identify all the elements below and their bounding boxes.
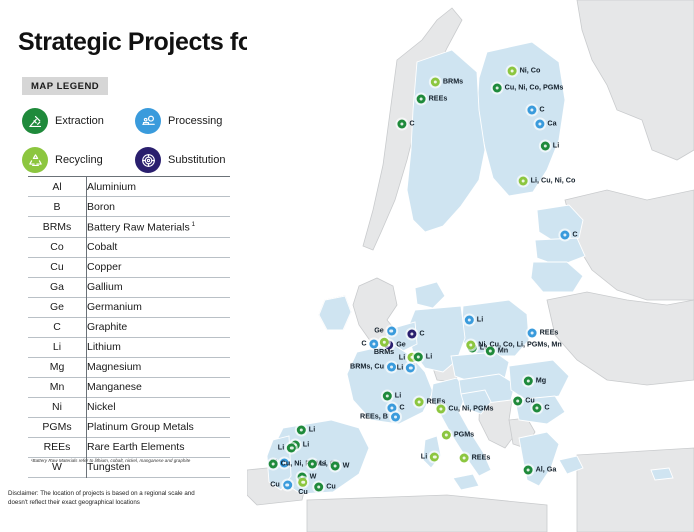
extraction-marker-icon [297,426,306,435]
map-marker-label: Ca [547,120,556,128]
table-row: GaGallium [28,277,230,297]
table-row: CGraphite [28,317,230,337]
map-marker[interactable]: C [532,404,549,413]
recycling-marker-icon [430,453,439,462]
processing-marker-icon [387,404,396,413]
table-row: BRMsBattery Raw Materials 1 [28,217,230,238]
map-marker-label: REEs [429,95,448,103]
recycling-marker-icon [380,338,389,347]
substitution-marker-icon [407,330,416,339]
abbr-symbol: Ge [28,297,87,317]
map-marker[interactable]: Li [383,392,401,401]
extraction-marker-icon [314,483,323,492]
map-legend: MAP LEGEND Extraction Processing [22,76,244,173]
extraction-marker-icon [513,397,522,406]
map-marker[interactable]: Mg [524,377,546,386]
processing-marker-icon [535,120,544,129]
map-marker-label: Li [399,354,405,362]
recycling-marker-icon [508,67,517,76]
map-marker-label: C [544,404,549,412]
map-marker[interactable]: Li, Cu, Ni, Co [519,177,576,186]
map-marker-label: Cu, Ni, Co, PGMs [505,84,564,92]
map-marker-label: C [409,120,414,128]
abbr-name: Manganese [87,377,231,397]
map-marker[interactable]: C [527,106,544,115]
substitution-icon [135,147,161,173]
map-marker[interactable]: C [560,231,577,240]
abbr-symbol: REEs [28,437,87,457]
map-marker[interactable]: Cu, Ni, PGMs [436,405,493,414]
abbr-symbol: Li [28,337,87,357]
extraction-marker-icon [383,392,392,401]
map-marker-label: Li [397,364,403,372]
map-marker[interactable]: Li [465,316,483,325]
map-marker[interactable]: Al, Ga [524,466,557,475]
table-row: AlAluminium [28,177,230,197]
processing-marker-icon [283,481,292,490]
abbr-symbol: Mg [28,357,87,377]
abbr-name: Aluminium [87,177,231,197]
map-marker-layer: Ni, CoBRMsCu, Ni, Co, PGMsREEsCCaCLiLi, … [247,0,694,532]
map-marker[interactable]: Ni, Cu, Co, Li, PGMs, Mn [466,341,561,350]
map-marker[interactable]: Li [297,426,315,435]
map-marker-label: Li [477,316,483,324]
extraction-marker-icon [532,404,541,413]
extraction-marker-icon [414,353,423,362]
europe-map: Ni, CoBRMsCu, Ni, Co, PGMsREEsCCaCLiLi, … [247,0,694,532]
abbr-name: Rare Earth Elements [87,437,231,457]
abbr-symbol: C [28,317,87,337]
map-marker[interactable]: Li [308,460,326,469]
table-row: CoCobalt [28,237,230,257]
abbr-symbol: B [28,197,87,217]
extraction-marker-icon [524,377,533,386]
map-marker-label: Li [421,453,427,461]
legend-badge: MAP LEGEND [22,77,108,95]
abbr-name: Copper [87,257,231,277]
recycling-marker-icon [466,341,475,350]
recycling-marker-icon [519,177,528,186]
map-marker[interactable]: C [407,330,424,339]
slide-root: Strategic Projects for the EU MAP LEGEND… [0,0,694,532]
map-marker[interactable]: W [331,462,350,471]
processing-marker-icon [391,413,400,422]
map-marker-label: Ge [374,327,384,335]
abbr-symbol: BRMs [28,217,87,238]
map-marker[interactable]: Li [541,142,559,151]
recycling-icon [22,147,48,173]
map-marker[interactable]: REEs [417,95,448,104]
map-marker[interactable]: Li [414,353,432,362]
map-marker[interactable]: Ca [535,120,556,129]
map-marker-label: Ge [396,341,406,349]
disclaimer: Disclaimer: The location of projects is … [8,490,208,508]
legend-items: Extraction Processing [22,108,244,173]
legend-label-extraction: Extraction [55,115,104,127]
extraction-marker-icon [331,462,340,471]
abbr-symbol: Al [28,177,87,197]
abbr-name: Graphite [87,317,231,337]
map-marker[interactable]: Ge [374,327,396,336]
abbr-name: Magnesium [87,357,231,377]
abbr-name: Battery Raw Materials 1 [87,217,231,238]
processing-marker-icon [387,327,396,336]
table-row: LiLithium [28,337,230,357]
map-marker-label: C [539,106,544,114]
map-marker[interactable]: Cu [270,481,292,490]
extraction-marker-icon [308,460,317,469]
map-marker[interactable]: Cu, Ni, PGMs, Co [269,460,340,469]
map-marker[interactable]: C [387,404,404,413]
abbr-name: Boron [87,197,231,217]
map-marker-label: BRMs [443,78,463,86]
abbr-symbol: Mn [28,377,87,397]
map-marker-label: Li [320,460,326,468]
map-marker-label: Li [426,353,432,361]
abbr-name: Gallium [87,277,231,297]
map-marker-label: PGMs [454,431,474,439]
map-marker-label: BRMs, Cu [350,363,384,371]
legend-item-processing: Processing [135,108,244,134]
map-marker-label: Li [303,441,309,449]
recycling-marker-icon [460,454,469,463]
map-marker[interactable]: BRMs [374,338,394,356]
map-marker[interactable]: Ni, Co [508,67,541,76]
map-marker-label: Cu [326,483,336,491]
map-marker-label: Li [395,392,401,400]
map-marker-label: Mg [536,377,546,385]
map-marker-label: Ni, Co [520,67,541,75]
extraction-marker-icon [397,120,406,129]
table-row: BBoron [28,197,230,217]
map-marker[interactable]: Cu [314,483,336,492]
map-marker[interactable]: C [397,120,414,129]
map-marker[interactable]: BRMs [431,78,463,87]
map-marker-label: Cu [270,481,280,489]
table-row: MgMagnesium [28,357,230,377]
abbr-name: Platinum Group Metals [87,417,231,437]
map-marker-label: Cu, Ni, PGMs [448,405,493,413]
map-marker-label: Ni, Cu, Co, Li, PGMs, Mn [478,341,561,349]
map-marker-label: C [399,404,404,412]
legend-label-processing: Processing [168,115,222,127]
map-marker-label: C [361,340,366,348]
recycling-marker-icon [436,405,445,414]
map-marker[interactable]: BRMs, Cu [350,363,396,372]
map-marker-label: Cu [298,488,308,496]
abbr-symbol: PGMs [28,417,87,437]
processing-marker-icon [527,106,536,115]
recycling-marker-icon [431,78,440,87]
legend-item-substitution: Substitution [135,147,244,173]
abbr-name: Lithium [87,337,231,357]
map-marker[interactable]: REEs [528,329,559,338]
abbr-symbol: Ga [28,277,87,297]
legend-label-recycling: Recycling [55,154,103,166]
extraction-marker-icon [287,444,296,453]
map-marker-label: C [572,231,577,239]
abbr-symbol: Ni [28,397,87,417]
legend-item-recycling: Recycling [22,147,131,173]
map-marker-label: W [310,473,317,481]
abbr-symbol: Co [28,237,87,257]
table-row: REEsRare Earth Elements [28,437,230,457]
extraction-icon [22,108,48,134]
map-marker[interactable]: Li [278,444,296,453]
recycling-marker-icon [299,478,308,487]
table-row: CuCopper [28,257,230,277]
processing-marker-icon [387,363,396,372]
map-marker-label: REEs [540,329,559,337]
footnote: ¹Battery Raw Materials refer to lithium,… [31,458,227,464]
map-marker[interactable]: Li [421,453,439,462]
abbr-name: Cobalt [87,237,231,257]
map-marker-label: Li [309,426,315,434]
legend-label-substitution: Substitution [168,154,225,166]
legend-item-extraction: Extraction [22,108,131,134]
extraction-marker-icon [541,142,550,151]
map-marker-label: BRMs [374,348,394,356]
table-row: GeGermanium [28,297,230,317]
extraction-marker-icon [524,466,533,475]
table-row: NiNickel [28,397,230,417]
abbr-symbol: Cu [28,257,87,277]
table-row: PGMsPlatinum Group Metals [28,417,230,437]
extraction-marker-icon [417,95,426,104]
extraction-marker-icon [269,460,278,469]
map-marker-label: REEs [472,454,491,462]
recycling-marker-icon [442,431,451,440]
abbreviation-table: AlAluminiumBBoronBRMsBattery Raw Materia… [28,176,230,478]
processing-marker-icon [465,316,474,325]
table-row: MnManganese [28,377,230,397]
map-marker-label: W [343,462,350,470]
processing-marker-icon [406,364,415,373]
map-marker[interactable]: Cu, Ni, Co, PGMs [493,84,564,93]
processing-icon [135,108,161,134]
map-marker-label: REEs, B [360,413,388,421]
map-marker[interactable]: REEs, B [360,413,400,422]
processing-marker-icon [528,329,537,338]
map-marker-label: Li [278,444,284,452]
abbr-name: Nickel [87,397,231,417]
map-marker[interactable]: Li [397,364,415,373]
extraction-marker-icon [493,84,502,93]
map-marker[interactable]: Cu [298,478,308,496]
map-marker-label: Al, Ga [536,466,557,474]
recycling-marker-icon [415,398,424,407]
processing-marker-icon [560,231,569,240]
map-marker[interactable]: REEs [460,454,491,463]
abbr-name: Germanium [87,297,231,317]
map-marker[interactable]: PGMs [442,431,474,440]
map-marker-label: Li, Cu, Ni, Co [531,177,576,185]
map-marker-label: Li [553,142,559,150]
map-marker-label: C [419,330,424,338]
